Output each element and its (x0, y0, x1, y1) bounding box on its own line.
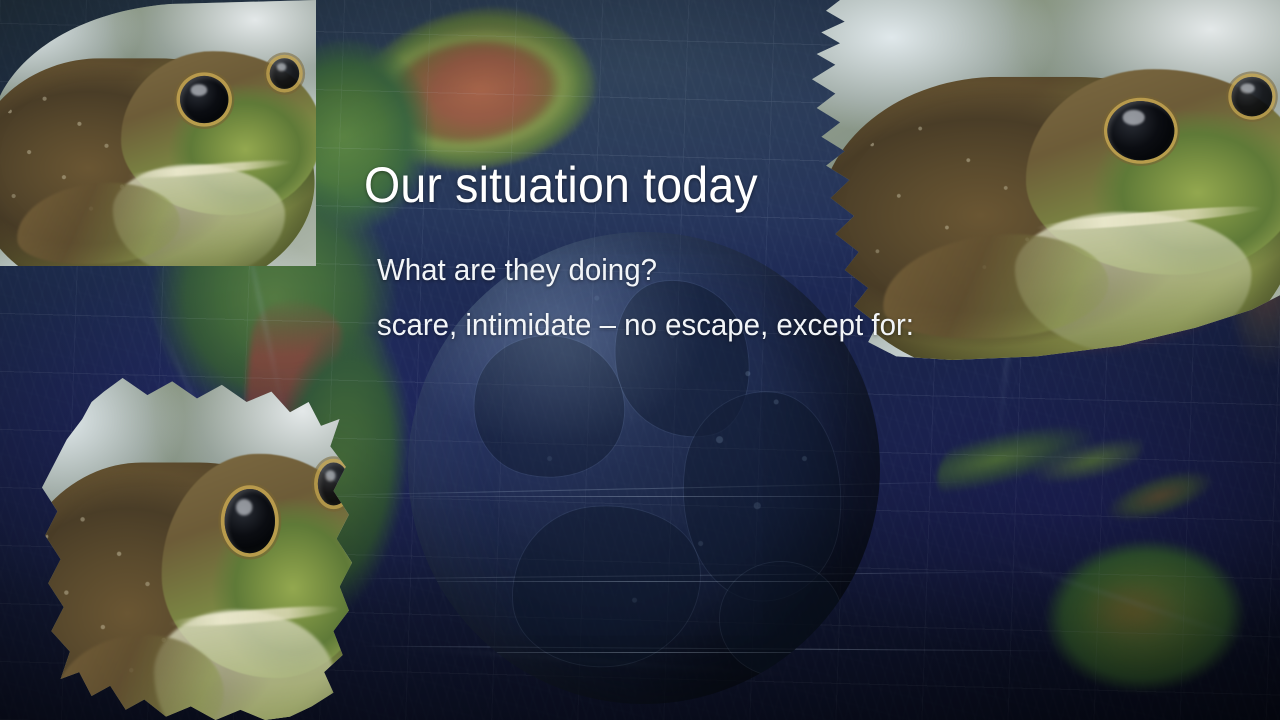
frog-photo-bottom-left (42, 378, 352, 720)
globe-specular-sheen (408, 232, 880, 704)
frog-eye-far (1231, 77, 1272, 117)
presentation-slide: Our situation today What are they doing?… (0, 0, 1280, 720)
frog-image-content-bottom-left (42, 378, 352, 720)
globe-overlay (408, 232, 880, 704)
frog-photo-top-right (812, 0, 1280, 360)
frog-eye-near (224, 489, 275, 554)
frog-image-content-top-right (812, 0, 1280, 360)
frog-eye-near (1108, 101, 1175, 160)
